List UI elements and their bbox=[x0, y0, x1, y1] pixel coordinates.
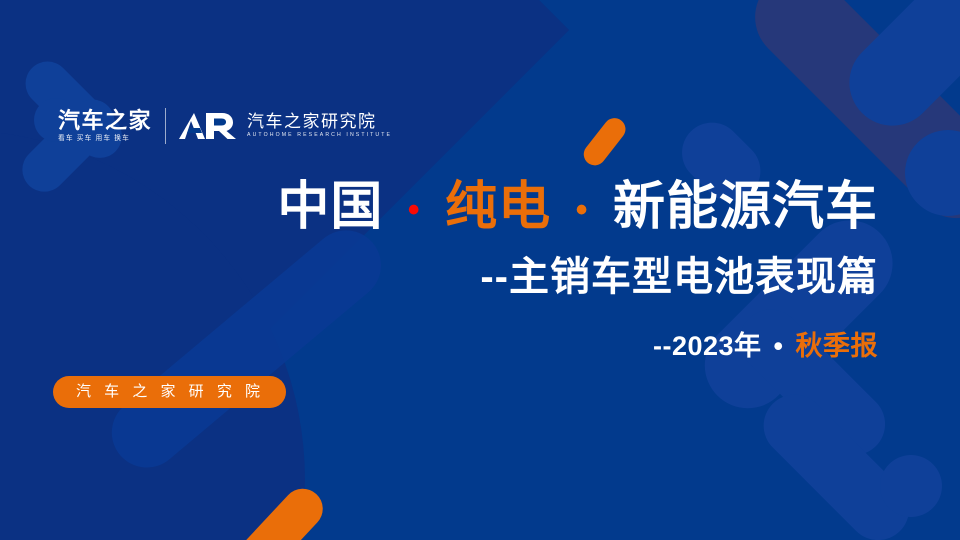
research-institute-name-cn: 汽车之家研究院 bbox=[247, 113, 392, 130]
logo-lockup: 汽车之家 看车 买车 用车 换车 汽车之家研究院 AUTOHOME RESEAR… bbox=[58, 108, 392, 144]
date-separator-dot: • bbox=[770, 331, 788, 361]
autohome-research-monogram-icon bbox=[179, 111, 237, 141]
research-institute-badge: 汽 车 之 家 研 究 院 bbox=[53, 376, 286, 408]
z-cap bbox=[880, 455, 942, 517]
orange-pill-top-accent bbox=[579, 114, 630, 170]
title-part-2: 新能源汽车 bbox=[613, 178, 878, 236]
research-institute-text: 汽车之家研究院 AUTOHOME RESEARCH INSTITUTE bbox=[247, 113, 392, 138]
page-title: 中国 • 纯电 • 新能源汽车 bbox=[238, 178, 878, 236]
autohome-brand-name: 汽车之家 bbox=[58, 110, 152, 132]
research-institute-name-en: AUTOHOME RESEARCH INSTITUTE bbox=[247, 133, 392, 138]
autohome-brand-tagline: 看车 买车 用车 换车 bbox=[58, 135, 130, 142]
title-separator-dot-2: • bbox=[567, 191, 598, 229]
report-season: 秋季报 bbox=[796, 331, 879, 361]
page-subtitle: --主销车型电池表现篇 bbox=[238, 254, 878, 300]
title-separator-dot-1: • bbox=[399, 191, 430, 229]
autohome-brand-logo: 汽车之家 看车 买车 用车 换车 bbox=[58, 110, 152, 142]
research-institute-logo: 汽车之家研究院 AUTOHOME RESEARCH INSTITUTE bbox=[179, 111, 392, 141]
report-date-line: --2023年 • 秋季报 bbox=[238, 324, 878, 363]
report-year: --2023年 bbox=[653, 331, 762, 361]
divider-icon bbox=[165, 108, 166, 144]
title-part-1: 中国 bbox=[277, 178, 383, 236]
title-block: 中国 • 纯电 • 新能源汽车 --主销车型电池表现篇 --2023年 • 秋季… bbox=[238, 178, 878, 363]
title-highlight: 纯电 bbox=[445, 178, 551, 236]
cover-slide: 汽车之家 看车 买车 用车 换车 汽车之家研究院 AUTOHOME RESEAR… bbox=[0, 0, 960, 540]
